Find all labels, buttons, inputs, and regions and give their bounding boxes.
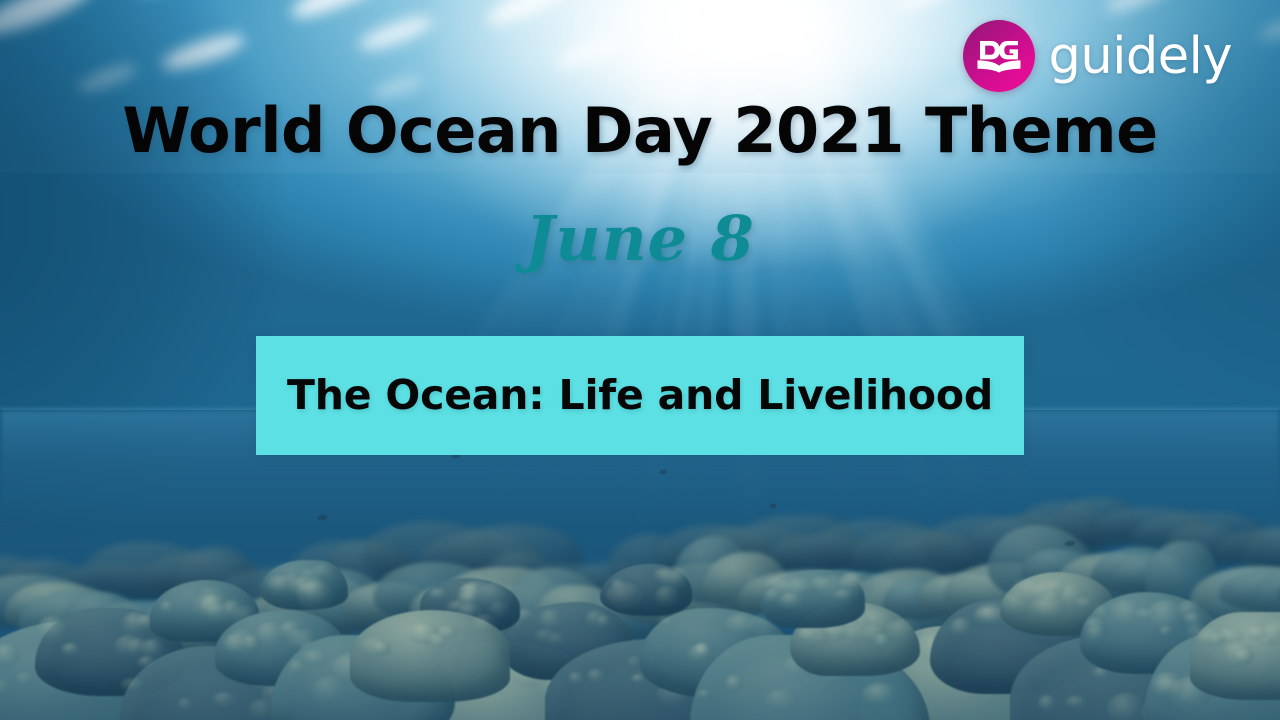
coral-bump [177, 698, 194, 711]
coral-bump [762, 588, 783, 605]
coral-bump [1177, 600, 1203, 623]
coral-bump [137, 656, 157, 669]
fish-silhouette [660, 470, 667, 474]
coral-bump [302, 650, 328, 667]
coral-bump [694, 643, 713, 659]
coral-bump [1159, 626, 1173, 637]
coral-rock [760, 570, 865, 628]
guidely-wordmark: guidely [1049, 31, 1232, 82]
coral-bump [1107, 693, 1145, 720]
coral-bump [1011, 579, 1048, 601]
coral-bump [222, 634, 248, 655]
coral-bump [160, 601, 175, 614]
coral-bump [1093, 605, 1111, 620]
coral-bump [657, 616, 675, 627]
guidely-logo-mark [963, 20, 1035, 92]
guidely-logo[interactable]: guidely [963, 20, 1232, 92]
coral-bump [61, 643, 81, 656]
coral-bump [568, 672, 585, 685]
coral-bump [796, 627, 817, 640]
coral-bump [611, 579, 626, 590]
coral-bump [725, 675, 743, 692]
coral-bump [428, 588, 448, 600]
coral-reef-seafloor [0, 410, 1280, 720]
coral-bump [1216, 628, 1243, 644]
coral-bump [1038, 695, 1057, 712]
coral-bump [288, 660, 307, 676]
coral-bump [0, 679, 11, 697]
coral-bump [1110, 599, 1142, 627]
theme-banner-text: The Ocean: Life and Livelihood [287, 373, 993, 418]
poster-title: World Ocean Day 2021 Theme [0, 98, 1280, 164]
coral-bump [127, 638, 149, 657]
coral-bump [191, 594, 227, 622]
fish-silhouette [770, 504, 776, 508]
coral-bump [669, 568, 691, 588]
fish-silhouette [1065, 541, 1075, 546]
coral-bump [884, 619, 923, 643]
coral-bump [810, 576, 833, 593]
poster-date: June 8 [0, 206, 1280, 271]
coral-rock [260, 560, 348, 610]
coral-bump [473, 614, 497, 634]
coral-bump [764, 689, 800, 711]
coral-rock [350, 610, 510, 702]
theme-banner: The Ocean: Life and Livelihood [256, 336, 1024, 455]
coral-bump [0, 644, 20, 668]
coral-bump [304, 578, 329, 601]
coral-bump [16, 672, 35, 686]
coral-bump [539, 609, 564, 632]
coral-bump [585, 610, 607, 629]
coral-bump [477, 582, 513, 611]
coral-bump [862, 683, 899, 707]
coral-bump [839, 572, 875, 593]
poster-canvas: guidely World Ocean Day 2021 Theme June … [0, 0, 1280, 720]
coral-bump [1085, 626, 1109, 644]
fish-silhouette [318, 515, 327, 520]
coral-bump [120, 678, 144, 692]
coral-bump [1234, 649, 1253, 664]
open-book-dg-icon [976, 38, 1022, 74]
coral-bump [1047, 580, 1066, 592]
coral-bump [372, 642, 392, 655]
coral-bump [427, 633, 448, 647]
coral-bump [950, 618, 973, 638]
coral-bump [37, 616, 69, 643]
coral-bump [266, 575, 296, 596]
coral-bump [212, 692, 237, 709]
coral-bump [587, 669, 606, 683]
coral-bump [256, 622, 285, 648]
coral-bump [1065, 696, 1087, 709]
coral-bump [697, 690, 713, 699]
